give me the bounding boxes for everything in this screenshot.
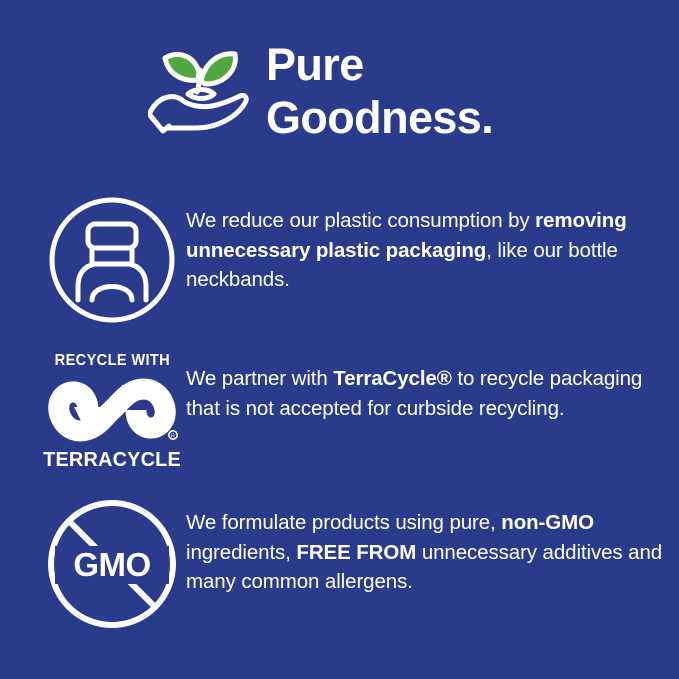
feature-text-terracycle: We partner with TerraCycle® to recycle p… bbox=[186, 350, 679, 423]
text-segment: We partner with bbox=[186, 367, 333, 390]
text-segment: ingredients, bbox=[186, 541, 296, 564]
pure-goodness-poster: Pure Goodness. We reduce our plastic con… bbox=[0, 0, 679, 679]
hand-holding-sprout-icon bbox=[148, 34, 252, 138]
page-title: Pure Goodness. bbox=[266, 32, 493, 144]
terracycle-top-text: RECYCLE WITH bbox=[54, 352, 169, 370]
infinity-recycle-arrows-icon: R bbox=[44, 373, 180, 447]
terracycle-lockup: RECYCLE WITH R TERRACYCLE bbox=[38, 350, 186, 471]
svg-text:R: R bbox=[171, 434, 175, 440]
text-segment-bold: non-GMO bbox=[501, 511, 594, 534]
header: Pure Goodness. bbox=[148, 32, 493, 144]
text-segment-bold: FREE FROM bbox=[296, 541, 416, 564]
text-segment-bold: TerraCycle® bbox=[333, 367, 451, 390]
feature-row-plastic: We reduce our plastic consumption by rem… bbox=[38, 196, 679, 324]
gmo-icon-label: GMO bbox=[73, 546, 150, 583]
feature-text-gmo: We formulate products using pure, non-GM… bbox=[186, 497, 679, 597]
feature-row-terracycle: RECYCLE WITH R TERRACYCLE We partner wit… bbox=[38, 350, 679, 471]
feature-row-gmo: GMO We formulate products using pure, no… bbox=[38, 497, 679, 631]
feature-text-plastic: We reduce our plastic consumption by rem… bbox=[186, 196, 679, 295]
terracycle-logo: RECYCLE WITH R TERRACYCLE bbox=[38, 350, 186, 471]
text-segment: We formulate products using pure, bbox=[186, 511, 501, 534]
text-segment: We reduce our plastic consumption by bbox=[186, 209, 535, 232]
no-gmo-circle-slash-icon: GMO bbox=[38, 497, 186, 631]
terracycle-bottom-text: TERRACYCLE bbox=[43, 448, 181, 471]
bottle-neckband-circle-icon bbox=[38, 196, 186, 324]
